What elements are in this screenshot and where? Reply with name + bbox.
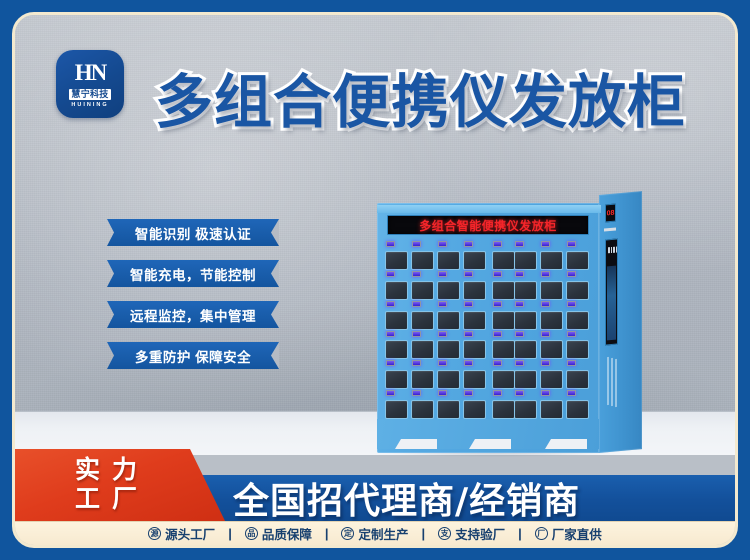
- locker-door[interactable]: [492, 340, 515, 359]
- locker-status-light-icon: [386, 331, 395, 337]
- locker-door[interactable]: [437, 340, 460, 359]
- locker-door[interactable]: [566, 400, 589, 419]
- side-counter-text: 08: [607, 209, 615, 217]
- footer-item-badge-icon: 厂: [535, 527, 548, 540]
- locker-status-light-icon: [541, 390, 550, 396]
- footer-item-label: 定制生产: [358, 524, 408, 543]
- locker-cell[interactable]: [463, 331, 488, 360]
- feature-label: 智能充电，节能控制: [130, 264, 256, 284]
- locker-status-light-icon: [493, 390, 502, 396]
- locker-status-light-icon: [493, 360, 502, 366]
- locker-cell[interactable]: [437, 241, 462, 270]
- locker-status-light-icon: [515, 271, 524, 277]
- locker-door[interactable]: [437, 400, 460, 419]
- feature-ribbon-2: 智能充电，节能控制: [107, 260, 279, 287]
- locker-cell[interactable]: [385, 271, 410, 300]
- side-vent: [611, 358, 613, 406]
- locker-door[interactable]: [514, 281, 537, 300]
- base-notch: [545, 439, 587, 449]
- locker-cell[interactable]: [492, 360, 514, 389]
- locker-cell[interactable]: [492, 241, 514, 270]
- locker-door[interactable]: [463, 311, 486, 330]
- locker-status-light-icon: [438, 241, 447, 247]
- cabinet-top-edge: [377, 205, 601, 213]
- locker-cell[interactable]: [492, 271, 514, 300]
- locker-door[interactable]: [566, 311, 589, 330]
- locker-cell[interactable]: [514, 301, 539, 330]
- side-vent: [607, 357, 609, 405]
- footer-item-label: 源头工厂: [165, 524, 215, 543]
- locker-door[interactable]: [492, 251, 515, 270]
- locker-cell[interactable]: [385, 241, 410, 270]
- locker-status-light-icon: [515, 301, 524, 307]
- locker-cell[interactable]: [385, 331, 410, 360]
- locker-door[interactable]: [540, 340, 563, 359]
- strength-factory-badge: 实力 工厂: [15, 449, 225, 521]
- locker-door[interactable]: [492, 281, 515, 300]
- control-panel-screen: [607, 266, 616, 341]
- base-notch: [469, 439, 511, 449]
- locker-grid: [385, 241, 591, 419]
- locker-cell[interactable]: [540, 301, 565, 330]
- locker-door[interactable]: [566, 370, 589, 389]
- footer-item-badge-icon: 支: [438, 527, 451, 540]
- locker-cell[interactable]: [540, 390, 565, 419]
- locker-status-light-icon: [541, 271, 550, 277]
- feature-ribbon-3: 远程监控，集中管理: [107, 301, 279, 328]
- trust-footer: 源源头工厂|品品质保障|定定制生产|支支持验厂|厂厂家直供: [15, 521, 735, 545]
- locker-cell[interactable]: [437, 331, 462, 360]
- locker-status-light-icon: [464, 360, 473, 366]
- locker-status-light-icon: [493, 301, 502, 307]
- footer-item: 源源头工厂: [148, 524, 215, 543]
- locker-cell[interactable]: [437, 271, 462, 300]
- logo-chinese-name: 慧宁科技: [69, 89, 110, 100]
- footer-item: 品品质保障: [245, 524, 312, 543]
- locker-cell[interactable]: [411, 360, 436, 389]
- footer-separator: |: [409, 526, 439, 541]
- locker-cell[interactable]: [540, 331, 565, 360]
- locker-door[interactable]: [463, 400, 486, 419]
- locker-status-light-icon: [412, 331, 421, 337]
- locker-door[interactable]: [385, 281, 408, 300]
- locker-door[interactable]: [411, 311, 434, 330]
- footer-separator: |: [215, 526, 245, 541]
- locker-status-light-icon: [412, 360, 421, 366]
- locker-door[interactable]: [437, 281, 460, 300]
- locker-door[interactable]: [411, 370, 434, 389]
- locker-door[interactable]: [463, 281, 486, 300]
- bottom-banner: 全国招代理商/经销商 实力 工厂 源源头工厂|品品质保障|定定制生产|支支持验厂…: [15, 449, 735, 545]
- locker-status-light-icon: [438, 301, 447, 307]
- locker-status-light-icon: [493, 241, 502, 247]
- locker-status-light-icon: [464, 331, 473, 337]
- locker-status-light-icon: [438, 390, 447, 396]
- locker-door[interactable]: [514, 400, 537, 419]
- locker-status-light-icon: [567, 331, 576, 337]
- locker-door[interactable]: [411, 251, 434, 270]
- side-vent: [615, 359, 617, 407]
- locker-status-light-icon: [567, 301, 576, 307]
- footer-item-label: 品质保障: [262, 524, 312, 543]
- footer-item: 厂厂家直供: [535, 524, 602, 543]
- locker-status-light-icon: [438, 331, 447, 337]
- feature-label: 多重防护 保障安全: [135, 346, 251, 366]
- locker-cell[interactable]: [437, 301, 462, 330]
- locker-cell[interactable]: [492, 331, 514, 360]
- locker-cell[interactable]: [514, 331, 539, 360]
- locker-cell[interactable]: [411, 241, 436, 270]
- locker-cell[interactable]: [463, 301, 488, 330]
- locker-door[interactable]: [566, 340, 589, 359]
- locker-door[interactable]: [385, 370, 408, 389]
- locker-door[interactable]: [492, 311, 515, 330]
- locker-status-light-icon: [541, 241, 550, 247]
- banner-inner-frame: HN 慧宁科技 HUINING 多组合便携仪发放柜 智能识别 极速认证 智能充电…: [12, 12, 738, 548]
- locker-status-light-icon: [464, 241, 473, 247]
- product-cabinet: 多组合智能便携仪发放柜 08: [377, 195, 642, 473]
- base-notch: [395, 439, 437, 449]
- locker-door[interactable]: [385, 251, 408, 270]
- locker-door[interactable]: [566, 251, 589, 270]
- footer-separator: |: [505, 526, 535, 541]
- footer-item: 支支持验厂: [438, 524, 505, 543]
- locker-cell[interactable]: [540, 271, 565, 300]
- locker-status-light-icon: [386, 301, 395, 307]
- locker-cell[interactable]: [514, 241, 539, 270]
- locker-door[interactable]: [385, 400, 408, 419]
- locker-door[interactable]: [411, 281, 434, 300]
- page-title: 多组合便携仪发放柜: [155, 73, 686, 131]
- locker-door[interactable]: [514, 251, 537, 270]
- locker-door[interactable]: [437, 251, 460, 270]
- locker-status-light-icon: [464, 390, 473, 396]
- locker-door[interactable]: [514, 311, 537, 330]
- locker-door[interactable]: [540, 281, 563, 300]
- locker-door[interactable]: [411, 400, 434, 419]
- locker-status-light-icon: [567, 390, 576, 396]
- company-logo: HN 慧宁科技 HUINING: [56, 50, 124, 118]
- locker-cell[interactable]: [514, 360, 539, 389]
- locker-cell[interactable]: [492, 301, 514, 330]
- locker-status-light-icon: [567, 271, 576, 277]
- product-banner: HN 慧宁科技 HUINING 多组合便携仪发放柜 智能识别 极速认证 智能充电…: [0, 0, 750, 560]
- locker-cell[interactable]: [385, 360, 410, 389]
- cabinet-front-panel: 多组合智能便携仪发放柜: [377, 203, 599, 453]
- footer-separator: |: [312, 526, 342, 541]
- locker-status-light-icon: [464, 301, 473, 307]
- locker-door[interactable]: [492, 400, 515, 419]
- locker-status-light-icon: [412, 390, 421, 396]
- locker-cell[interactable]: [492, 390, 514, 419]
- locker-cell[interactable]: [566, 271, 591, 300]
- locker-status-light-icon: [412, 241, 421, 247]
- logo-english-name: HUINING: [71, 103, 108, 109]
- locker-door[interactable]: [437, 311, 460, 330]
- locker-door[interactable]: [540, 400, 563, 419]
- locker-door[interactable]: [566, 281, 589, 300]
- footer-item-label: 支持验厂: [455, 524, 505, 543]
- product-scene: HN 慧宁科技 HUINING 多组合便携仪发放柜 智能识别 极速认证 智能充电…: [15, 15, 735, 455]
- locker-status-light-icon: [541, 360, 550, 366]
- locker-status-light-icon: [567, 241, 576, 247]
- locker-door[interactable]: [463, 340, 486, 359]
- locker-door[interactable]: [463, 370, 486, 389]
- locker-status-light-icon: [438, 360, 447, 366]
- control-panel: [605, 238, 618, 345]
- badge-line-2: 工厂: [63, 486, 149, 513]
- locker-cell[interactable]: [463, 241, 488, 270]
- locker-cell[interactable]: [385, 301, 410, 330]
- locker-cell[interactable]: [463, 390, 488, 419]
- locker-cell[interactable]: [463, 360, 488, 389]
- locker-status-light-icon: [541, 331, 550, 337]
- locker-door[interactable]: [540, 311, 563, 330]
- led-marquee-text: 多组合智能便携仪发放柜: [419, 217, 557, 234]
- locker-door[interactable]: [514, 340, 537, 359]
- locker-status-light-icon: [464, 271, 473, 277]
- locker-cell[interactable]: [566, 241, 591, 270]
- led-marquee-display: 多组合智能便携仪发放柜: [387, 215, 589, 235]
- locker-status-light-icon: [515, 360, 524, 366]
- locker-cell[interactable]: [411, 301, 436, 330]
- locker-door[interactable]: [437, 370, 460, 389]
- cabinet-base: [377, 419, 599, 449]
- feature-ribbon-4: 多重防护 保障安全: [107, 342, 279, 369]
- feature-ribbon-1: 智能识别 极速认证: [107, 219, 279, 246]
- footer-item: 定定制生产: [341, 524, 408, 543]
- footer-item-badge-icon: 品: [245, 527, 258, 540]
- locker-status-light-icon: [386, 241, 395, 247]
- locker-status-light-icon: [515, 390, 524, 396]
- locker-door[interactable]: [492, 370, 515, 389]
- locker-status-light-icon: [386, 390, 395, 396]
- locker-status-light-icon: [515, 241, 524, 247]
- keypad-icon: [608, 246, 618, 253]
- locker-door[interactable]: [411, 340, 434, 359]
- locker-cell[interactable]: [540, 241, 565, 270]
- locker-door[interactable]: [540, 251, 563, 270]
- locker-cell[interactable]: [385, 390, 410, 419]
- footer-item-badge-icon: 源: [148, 527, 161, 540]
- locker-status-light-icon: [493, 331, 502, 337]
- locker-cell[interactable]: [566, 390, 591, 419]
- locker-status-light-icon: [515, 331, 524, 337]
- locker-cell[interactable]: [566, 360, 591, 389]
- locker-door[interactable]: [463, 251, 486, 270]
- logo-monogram: HN: [75, 61, 106, 84]
- feature-label: 远程监控，集中管理: [130, 305, 256, 325]
- locker-door[interactable]: [385, 311, 408, 330]
- locker-cell[interactable]: [437, 360, 462, 389]
- locker-status-light-icon: [567, 360, 576, 366]
- locker-status-light-icon: [438, 271, 447, 277]
- footer-item-badge-icon: 定: [341, 527, 354, 540]
- badge-line-1: 实力: [63, 457, 149, 484]
- feature-list: 智能识别 极速认证 智能充电，节能控制 远程监控，集中管理 多重防护 保障安全: [107, 219, 279, 369]
- locker-cell[interactable]: [411, 271, 436, 300]
- locker-cell[interactable]: [411, 390, 436, 419]
- locker-status-light-icon: [412, 271, 421, 277]
- locker-cell[interactable]: [411, 331, 436, 360]
- locker-status-light-icon: [412, 301, 421, 307]
- locker-cell[interactable]: [514, 390, 539, 419]
- locker-cell[interactable]: [514, 271, 539, 300]
- locker-status-light-icon: [541, 301, 550, 307]
- locker-status-light-icon: [493, 271, 502, 277]
- locker-status-light-icon: [386, 271, 395, 277]
- feature-label: 智能识别 极速认证: [135, 223, 251, 243]
- footer-item-label: 厂家直供: [552, 524, 602, 543]
- locker-status-light-icon: [386, 360, 395, 366]
- locker-cell[interactable]: [437, 390, 462, 419]
- locker-door[interactable]: [540, 370, 563, 389]
- side-counter-display: 08: [605, 204, 616, 223]
- locker-cell[interactable]: [566, 301, 591, 330]
- locker-door[interactable]: [385, 340, 408, 359]
- locker-cell[interactable]: [540, 360, 565, 389]
- cta-text: 全国招代理商/经销商: [233, 473, 580, 523]
- locker-cell[interactable]: [566, 331, 591, 360]
- locker-cell[interactable]: [463, 271, 488, 300]
- locker-door[interactable]: [514, 370, 537, 389]
